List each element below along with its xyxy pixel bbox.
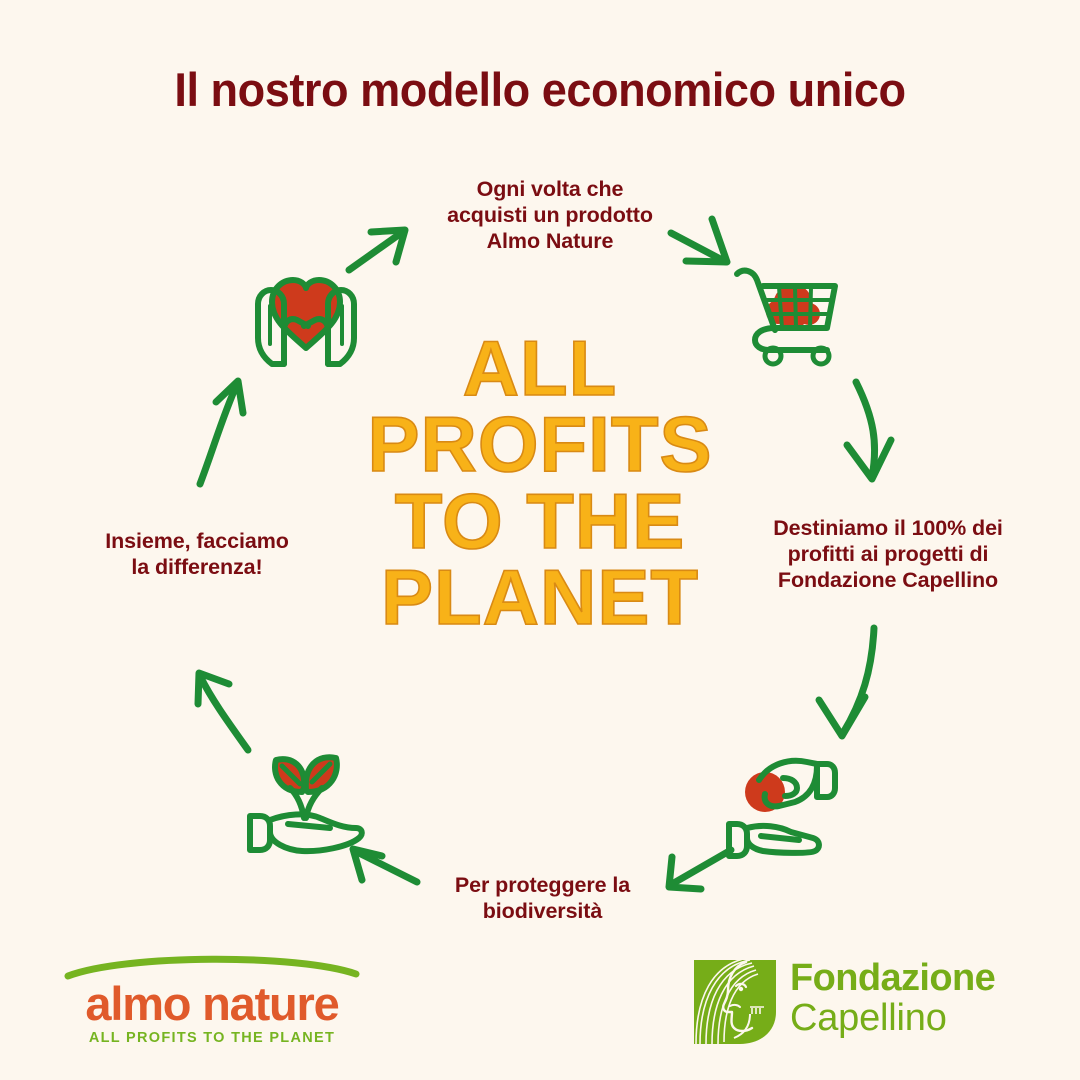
caption-line: Almo Nature [400,228,700,254]
arrow-sprout-to-together [198,673,248,750]
fondazione-capellino-logo: Fondazione Capellino [694,952,1024,1052]
fondazione-capellino-mark-icon [694,960,776,1044]
caption-step-purchase: Ogni volta che acquisti un prodotto Almo… [400,176,700,255]
arrow-cart-to-profits [847,382,891,479]
caption-line: Ogni volta che [400,176,700,202]
arrow-profits-to-coin [819,628,874,736]
caption-step-biodiversity: Per proteggere la biodiversità [415,872,670,924]
almo-nature-tagline: ALL PROFITS TO THE PLANET [62,1030,362,1046]
almo-arc-icon [66,952,358,978]
caption-line: Fondazione Capellino [738,567,1038,593]
fc-line-1: Fondazione [790,958,995,998]
arrow-together-to-heart [200,381,243,484]
shopping-cart-icon [731,262,843,362]
hand-sprout-icon [246,744,366,856]
caption-line: la differenza! [52,554,342,580]
fc-line-2: Capellino [790,998,995,1038]
caption-line: Insieme, facciamo [52,528,342,554]
almo-nature-logo: almo nature ALL PROFITS TO THE PLANET [62,952,362,1052]
caption-line: profitti ai progetti di [738,541,1038,567]
almo-nature-wordmark: almo nature [62,976,362,1031]
infographic-canvas: Il nostro modello economico unico ALL PR… [0,0,1080,1080]
caption-step-together: Insieme, facciamo la differenza! [52,528,342,580]
caption-line: Destiniamo il 100% dei [738,515,1038,541]
caption-line: biodiversità [415,898,670,924]
fondazione-capellino-wordmark: Fondazione Capellino [790,958,995,1039]
caption-line: acquisti un prodotto [400,202,700,228]
caption-line: Per proteggere la [415,872,670,898]
hand-giving-coin-icon [721,752,839,858]
caption-step-profits: Destiniamo il 100% dei profitti ai proge… [738,515,1038,594]
hands-heart-icon [246,252,366,370]
